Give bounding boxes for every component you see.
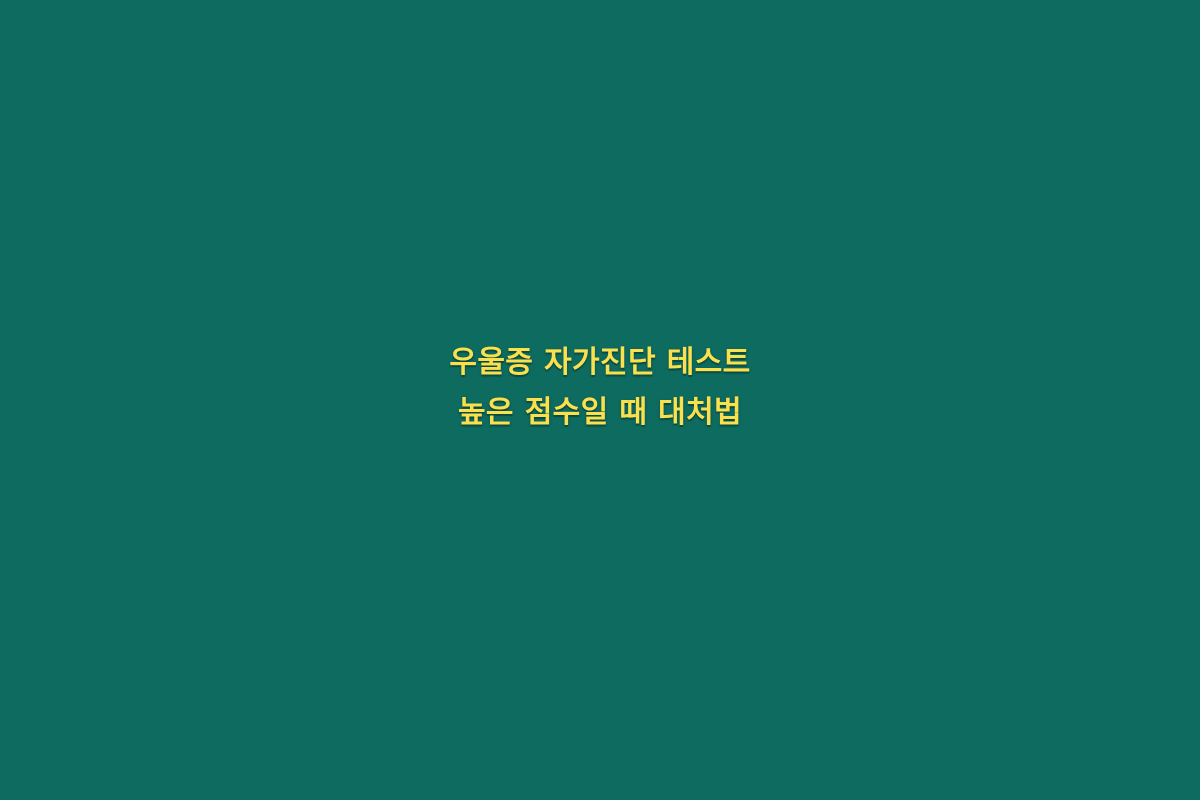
headline-block: 우울증 자가진단 테스트 높은 점수일 때 대처법 [0,347,1200,429]
headline-line-1: 우울증 자가진단 테스트 [40,347,1160,379]
headline-line-2: 높은 점수일 때 대처법 [40,397,1160,429]
poster-canvas: 우울증 자가진단 테스트 높은 점수일 때 대처법 [0,0,1200,800]
